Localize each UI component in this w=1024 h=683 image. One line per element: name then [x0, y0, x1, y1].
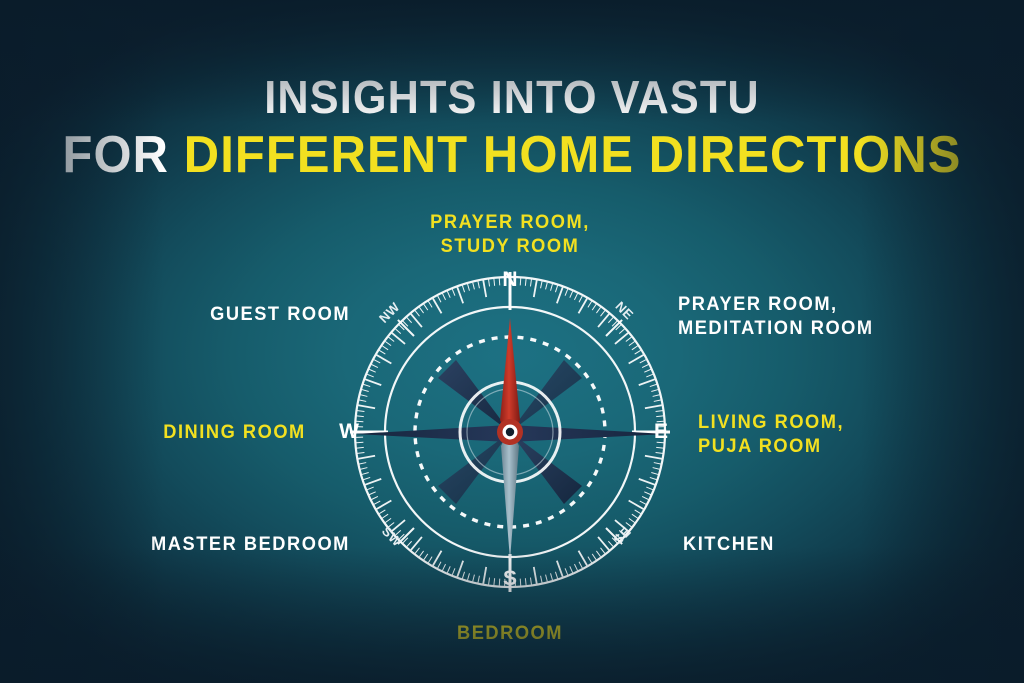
infographic-canvas: INSIGHTS INTO VASTU FOR DIFFERENT HOME D…	[0, 0, 1024, 683]
title-line-1: INSIGHTS INTO VASTU	[31, 74, 994, 120]
compass-label-west: W	[336, 420, 362, 444]
room-label-south: BEDROOM	[337, 622, 683, 646]
room-label-east: LIVING ROOM, PUJA ROOM	[698, 411, 986, 460]
compass-label-east: E	[648, 420, 674, 444]
room-label-northwest: GUEST ROOM	[115, 303, 350, 327]
title-line-2-yellow: DIFFERENT HOME DIRECTIONS	[184, 126, 962, 184]
room-label-southwest: MASTER BEDROOM	[105, 533, 350, 557]
title-line-2: FOR DIFFERENT HOME DIRECTIONS	[31, 129, 994, 181]
page-title: INSIGHTS INTO VASTU FOR DIFFERENT HOME D…	[0, 74, 1024, 181]
compass-hub	[497, 419, 523, 445]
room-label-west: DINING ROOM	[104, 421, 306, 445]
compass-label-south: S	[494, 567, 526, 591]
title-line-2-white: FOR	[63, 126, 184, 184]
compass-label-north: N	[494, 268, 526, 292]
room-label-north: PRAYER ROOM, STUDY ROOM	[337, 211, 683, 260]
room-label-southeast: KITCHEN	[683, 533, 971, 557]
room-label-northeast: PRAYER ROOM, MEDITATION ROOM	[678, 293, 966, 342]
